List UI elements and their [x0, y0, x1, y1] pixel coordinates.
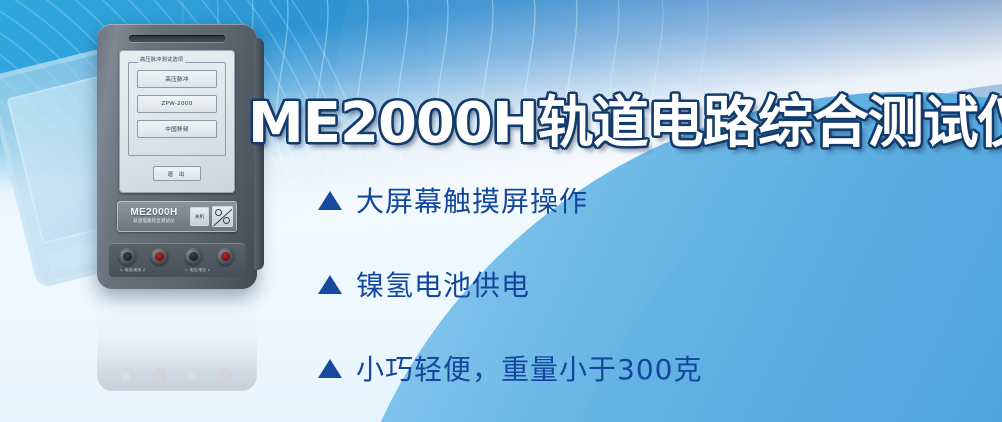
device-screen-button-2[interactable]: ZPW-2000: [137, 95, 217, 113]
icon-circle-top: [215, 209, 222, 216]
device-front-panel: ME2000H 轨道电路综合测试仪 关机: [117, 201, 237, 232]
device-screen-fieldset: 高压脉冲测试选项 高压脉冲 ZPW-2000 中国移频: [128, 62, 226, 156]
device-reflection: [97, 291, 257, 391]
device-model-label: ME2000H: [121, 208, 187, 218]
page-title: ME2000H轨道电路综合测试仪: [248, 78, 1002, 159]
feature-item-1-label: 大屏幕触摸屏操作: [356, 180, 588, 220]
jack-voltage-black[interactable]: [185, 248, 202, 265]
device-speaker-grille: [129, 35, 225, 42]
feature-item-2: 镍氢电池供电: [318, 264, 878, 304]
device-screen: 高压脉冲测试选项 高压脉冲 ZPW-2000 中国移频 退 出: [119, 50, 235, 193]
triangle-up-icon: [318, 359, 342, 378]
device-power-button[interactable]: 关机: [190, 207, 209, 226]
device-branding: ME2000H 轨道电路综合测试仪: [121, 208, 187, 224]
product-banner: 高压脉冲测试选项 高压脉冲 ZPW-2000 中国移频 退 出 ME2000H …: [0, 0, 1002, 422]
device-jack-bar: ↳ 电流/电流 ↲ ↳ 电压/电压 ↲: [109, 243, 245, 277]
device-subtitle-label: 轨道电路综合测试仪: [121, 220, 187, 224]
feature-item-3-label: 小巧轻便，重量小于300克: [356, 348, 702, 388]
feature-item-1: 大屏幕触摸屏操作: [318, 180, 878, 220]
jack-label-current: ↳ 电流/电流 ↲: [120, 268, 146, 273]
icon-circle-bottom: [223, 217, 230, 224]
device-screen-legend: 高压脉冲测试选项: [138, 56, 185, 63]
feature-list: 大屏幕触摸屏操作 镍氢电池供电 小巧轻便，重量小于300克: [318, 180, 878, 422]
feature-item-2-label: 镍氢电池供电: [356, 264, 530, 304]
jack-current-black[interactable]: [119, 248, 136, 265]
settings-diagonal-icon[interactable]: [212, 206, 233, 227]
device-screen-button-3[interactable]: 中国移频: [137, 120, 217, 138]
device-screen-exit-button[interactable]: 退 出: [153, 166, 201, 181]
device-reflection-jacks: [109, 359, 245, 383]
device-photo: 高压脉冲测试选项 高压脉冲 ZPW-2000 中国移频 退 出 ME2000H …: [97, 24, 257, 289]
jack-label-voltage: ↳ 电压/电压 ↲: [185, 268, 211, 273]
jack-voltage-red[interactable]: [217, 248, 234, 265]
feature-item-3: 小巧轻便，重量小于300克: [318, 348, 878, 388]
device-screen-button-1[interactable]: 高压脉冲: [137, 70, 217, 88]
triangle-up-icon: [318, 191, 342, 210]
triangle-up-icon: [318, 275, 342, 294]
jack-current-red[interactable]: [151, 248, 168, 265]
